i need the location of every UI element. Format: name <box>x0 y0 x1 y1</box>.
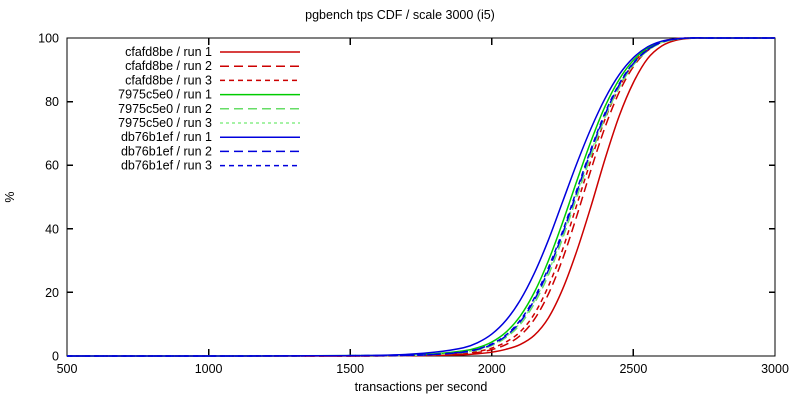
y-tick-label: 80 <box>45 95 59 109</box>
x-tick-label: 2500 <box>619 362 647 376</box>
legend-label-1: cfafd8be / run 1 <box>125 45 212 59</box>
y-tick-label: 20 <box>45 286 59 300</box>
y-tick-label: 60 <box>45 159 59 173</box>
x-tick-label: 500 <box>57 362 78 376</box>
x-tick-label: 3000 <box>761 362 789 376</box>
y-tick-label: 40 <box>45 222 59 236</box>
legend-label-7: db76b1ef / run 1 <box>121 130 212 144</box>
y-axis-title: % <box>3 191 17 202</box>
x-tick-label: 1000 <box>195 362 223 376</box>
legend-label-5: 7975c5e0 / run 2 <box>118 102 212 116</box>
legend-label-6: 7975c5e0 / run 3 <box>118 116 212 130</box>
legend-label-3: cfafd8be / run 3 <box>125 73 212 87</box>
legend-label-9: db76b1ef / run 3 <box>121 159 212 173</box>
x-axis-title: transactions per second <box>355 380 488 394</box>
legend-label-8: db76b1ef / run 2 <box>121 144 212 158</box>
cdf-plot: pgbench tps CDF / scale 3000 (i5) 020406… <box>0 0 800 400</box>
legend-label-4: 7975c5e0 / run 1 <box>118 88 212 102</box>
legend-label-2: cfafd8be / run 2 <box>125 59 212 73</box>
x-tick-label: 2000 <box>478 362 506 376</box>
legend: cfafd8be / run 1cfafd8be / run 2cfafd8be… <box>118 45 300 173</box>
chart-title: pgbench tps CDF / scale 3000 (i5) <box>305 8 495 22</box>
chart-container: pgbench tps CDF / scale 3000 (i5) 020406… <box>0 0 800 400</box>
y-tick-label: 100 <box>38 32 59 46</box>
x-tick-label: 1500 <box>336 362 364 376</box>
